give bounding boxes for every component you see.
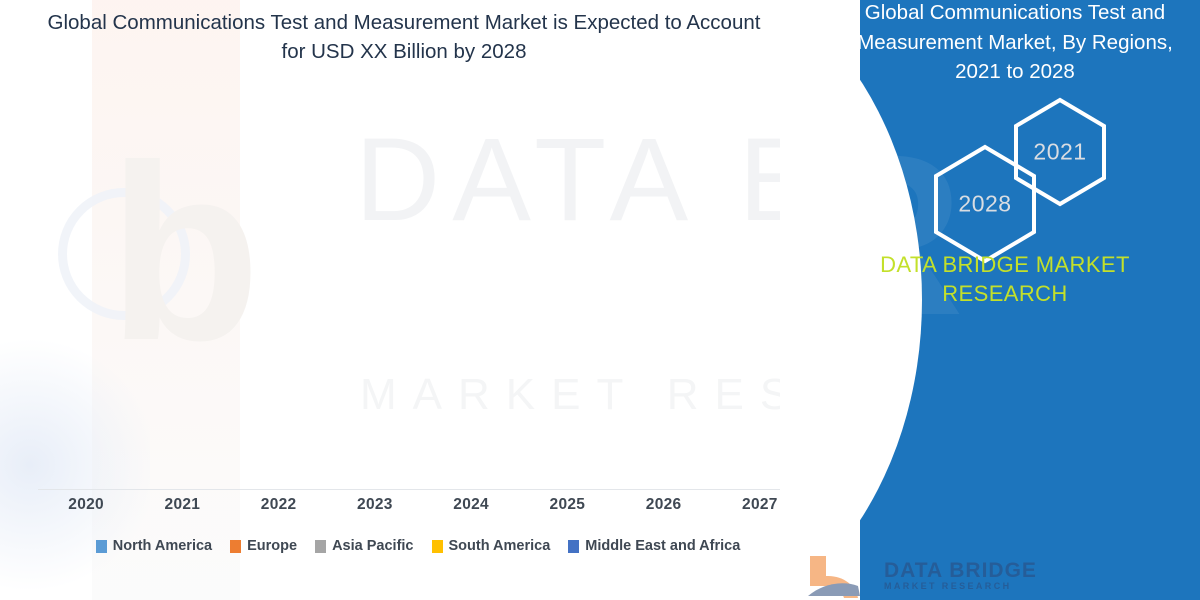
- logo-name: DATA BRIDGE: [884, 560, 1037, 582]
- hexagon-2021-label: 2021: [1033, 139, 1086, 166]
- infographic-root: b DATA BR MARKET RESEARCH Global Communi…: [0, 0, 1200, 600]
- bridge-logo-icon: [804, 552, 874, 600]
- bar-group-2025: [519, 100, 615, 489]
- bar-group-2023: [327, 100, 423, 489]
- x-axis-line: [38, 489, 808, 490]
- hexagon-group: 2021 2028: [898, 96, 1118, 216]
- logo-watermark: DATA BRIDGE MARKET RESEARCH: [804, 552, 1037, 600]
- legend-label: South America: [449, 538, 551, 554]
- x-axis-label-2021: 2021: [134, 496, 230, 514]
- legend-swatch-icon: [432, 540, 443, 553]
- legend-item[interactable]: Europe: [230, 538, 297, 554]
- logo-text: DATA BRIDGE MARKET RESEARCH: [884, 560, 1037, 591]
- x-axis-label-2026: 2026: [616, 496, 712, 514]
- legend-label: Asia Pacific: [332, 538, 413, 554]
- chart-legend: North AmericaEuropeAsia PacificSouth Ame…: [38, 538, 798, 554]
- bar-group-2021: [134, 100, 230, 489]
- bar-group-2020: [38, 100, 134, 489]
- bar-group-2024: [423, 100, 519, 489]
- legend-label: North America: [113, 538, 212, 554]
- legend-item[interactable]: Middle East and Africa: [568, 538, 740, 554]
- logo-tagline: MARKET RESEARCH: [884, 582, 1037, 591]
- x-axis-labels: 20202021202220232024202520262027: [38, 496, 808, 514]
- panel-title: Global Communications Test and Measureme…: [840, 0, 1190, 87]
- page-title: Global Communications Test and Measureme…: [34, 8, 774, 66]
- bar-group-2022: [231, 100, 327, 489]
- legend-label: Middle East and Africa: [585, 538, 740, 554]
- bar-group-2026: [616, 100, 712, 489]
- legend-swatch-icon: [96, 540, 107, 553]
- hexagon-2028-label: 2028: [958, 191, 1011, 218]
- chart-plot-area: [38, 100, 808, 490]
- legend-item[interactable]: Asia Pacific: [315, 538, 413, 554]
- hexagon-2028-icon: 2028: [930, 143, 1040, 265]
- brand-line-2: RESEARCH: [810, 279, 1200, 308]
- x-axis-label-2022: 2022: [231, 496, 327, 514]
- x-axis-label-2024: 2024: [423, 496, 519, 514]
- legend-item[interactable]: North America: [96, 538, 212, 554]
- stacked-bar-chart: [38, 100, 808, 490]
- x-axis-label-2020: 2020: [38, 496, 134, 514]
- brand-line-1: DATA BRIDGE MARKET: [810, 250, 1200, 279]
- x-axis-label-2023: 2023: [327, 496, 423, 514]
- chart-bars-container: [38, 100, 808, 489]
- legend-label: Europe: [247, 538, 297, 554]
- legend-swatch-icon: [315, 540, 326, 553]
- legend-swatch-icon: [568, 540, 579, 553]
- right-panel: R Global Communications Test and Measure…: [780, 0, 1200, 600]
- legend-item[interactable]: South America: [432, 538, 551, 554]
- brand-name: DATA BRIDGE MARKET RESEARCH: [810, 250, 1200, 308]
- x-axis-label-2025: 2025: [519, 496, 615, 514]
- legend-swatch-icon: [230, 540, 241, 553]
